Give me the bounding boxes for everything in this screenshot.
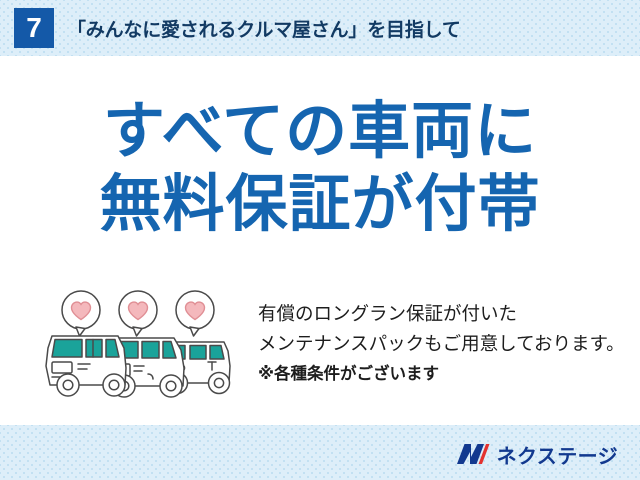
description-line-1: 有償のロングラン保証が付いた bbox=[258, 299, 630, 329]
cars-with-hearts-illustration bbox=[38, 288, 248, 400]
nextage-n-mark-icon bbox=[456, 441, 490, 467]
content-section: 有償のロングラン保証が付いた メンテナンスパックもご用意しております。 ※各種条… bbox=[0, 288, 640, 403]
illustration-svg bbox=[38, 288, 248, 400]
car-kei-van bbox=[46, 336, 126, 396]
headline-line-2: 無料保証が付帯 bbox=[0, 169, 640, 242]
header: 7 「みんなに愛されるクルマ屋さん」を目指して bbox=[0, 0, 640, 56]
brand-logo: ネクステージ bbox=[456, 440, 618, 468]
headline-line-1: すべての車両に bbox=[0, 96, 640, 169]
warranty-banner: 7 「みんなに愛されるクルマ屋さん」を目指して すべての車両に 無料保証が付帯 bbox=[0, 0, 640, 480]
description-line-2: メンテナンスパックもご用意しております。 bbox=[258, 329, 630, 359]
description-note: ※各種条件がございます bbox=[258, 361, 630, 387]
brand-name: ネクステージ bbox=[497, 440, 618, 469]
header-title: 「みんなに愛されるクルマ屋さん」を目指して bbox=[67, 15, 461, 42]
description-text: 有償のロングラン保証が付いた メンテナンスパックもご用意しております。 ※各種条… bbox=[258, 299, 630, 387]
page-title: すべての車両に 無料保証が付帯 bbox=[0, 96, 640, 241]
section-number-badge: 7 bbox=[14, 8, 54, 48]
